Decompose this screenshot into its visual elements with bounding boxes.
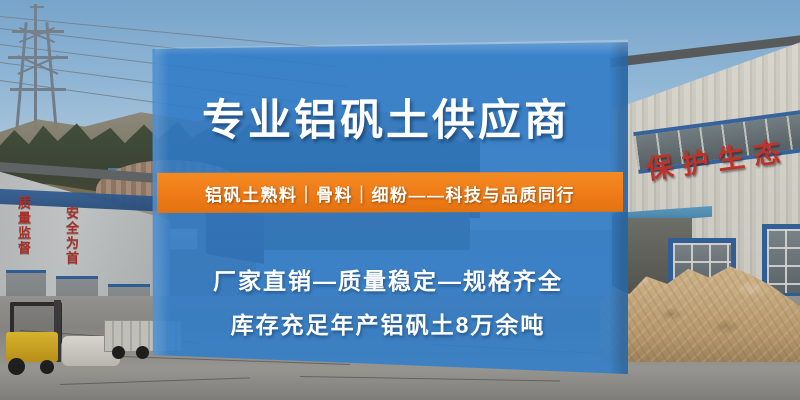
page-title: 专业铝矾土供应商 — [150, 86, 622, 148]
orange-ribbon: 铝矾土熟料｜骨料｜细粉——科技与品质同行 — [157, 172, 623, 213]
ribbon-text: 铝矾土熟料｜骨料｜细粉——科技与品质同行 — [157, 181, 623, 206]
body-line-2: 库存充足年产铝矾土8万余吨 — [150, 306, 626, 340]
panel-top-glow — [150, 34, 628, 56]
banner-image: 质量监督 安全为首 保护生态 — [0, 0, 800, 400]
headline-panel-group: 专业铝矾土供应商 铝矾土熟料｜骨料｜细粉——科技与品质同行 厂家直销—质量稳定—… — [0, 0, 800, 400]
body-line-1: 厂家直销—质量稳定—规格齐全 — [150, 262, 626, 296]
